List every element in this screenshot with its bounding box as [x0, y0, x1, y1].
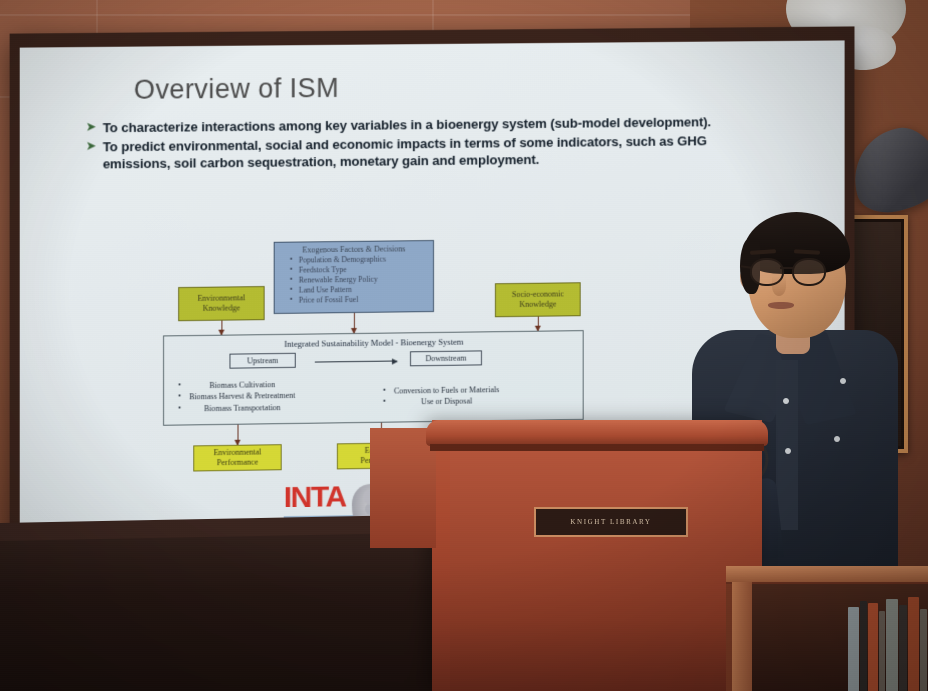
box-line-1: Socio-economic	[512, 289, 564, 300]
exogenous-title: Exogenous Factors & Decisions	[275, 244, 433, 255]
diagram-box-exogenous-factors: Exogenous Factors & Decisions Population…	[274, 240, 434, 314]
book	[868, 603, 878, 691]
bookshelf	[726, 566, 928, 691]
box-line-1: Environmental	[214, 447, 262, 458]
arrow-socio-to-model	[538, 317, 539, 331]
book	[908, 597, 919, 691]
book	[886, 599, 898, 691]
podium-plaque: KNIGHT LIBRARY	[534, 507, 688, 537]
upstream-item-list: Biomass Cultivation Biomass Harvest & Pr…	[178, 379, 295, 415]
presenter-mouth	[768, 302, 794, 309]
diagram-box-environmental-knowledge: Environmental Knowledge	[178, 286, 264, 321]
bookshelf-cavity	[752, 584, 928, 691]
model-title: Integrated Sustainability Model - Bioene…	[164, 331, 583, 350]
box-line-1: Environmental	[197, 293, 245, 304]
photo-scene: Overview of ISM ➤ To characterize intera…	[0, 0, 928, 691]
presenter-nose	[772, 276, 786, 296]
arrow-exog-to-model	[354, 313, 355, 333]
box-line-2: Knowledge	[203, 303, 240, 313]
diagram-box-environmental-performance: Environmental Performance	[193, 444, 281, 471]
presenter-glasses	[746, 258, 850, 282]
presenter-button	[834, 436, 840, 442]
presenter-button	[840, 378, 846, 384]
box-line-2: Performance	[217, 458, 258, 469]
podium-side-shelf	[370, 428, 436, 548]
podium-top-rail	[426, 420, 768, 446]
book	[920, 609, 927, 691]
book	[848, 607, 859, 691]
book	[860, 601, 867, 691]
downstream-item: Use or Disposal	[383, 395, 499, 408]
presenter-placket	[776, 360, 798, 530]
diagram-box-upstream: Upstream	[229, 353, 295, 369]
arrow-upstream-to-downstream	[315, 360, 397, 362]
box-line-2: Knowledge	[519, 300, 556, 310]
bookshelf-post	[732, 582, 752, 691]
diagram-box-socioeconomic-knowledge: Socio-economic Knowledge	[495, 282, 581, 317]
inta-wordmark: INTA	[284, 482, 360, 513]
podium-lip	[430, 444, 764, 451]
bookshelf-crown-molding	[726, 566, 928, 584]
book	[879, 611, 885, 691]
podium-plaque-text: KNIGHT LIBRARY	[570, 518, 651, 526]
podium: KNIGHT LIBRARY	[432, 420, 762, 691]
upstream-item: Biomass Transportation	[178, 402, 295, 415]
glasses-lens-right	[792, 258, 826, 286]
presenter-button	[785, 448, 791, 454]
exogenous-item: Price of Fossil Fuel	[299, 295, 386, 306]
podium-body: KNIGHT LIBRARY	[450, 451, 750, 691]
book	[899, 605, 907, 691]
arrow-model-to-environmental	[238, 425, 239, 445]
presenter-button	[783, 398, 789, 404]
glasses-bridge	[780, 267, 794, 269]
arrow-env-to-model	[221, 321, 222, 335]
downstream-item-list: Conversion to Fuels or Materials Use or …	[383, 384, 499, 408]
exogenous-item-list: Population & Demographics Feedstock Type…	[275, 255, 386, 306]
diagram-box-integrated-model: Integrated Sustainability Model - Bioene…	[163, 330, 584, 426]
diagram-box-downstream: Downstream	[410, 350, 482, 366]
